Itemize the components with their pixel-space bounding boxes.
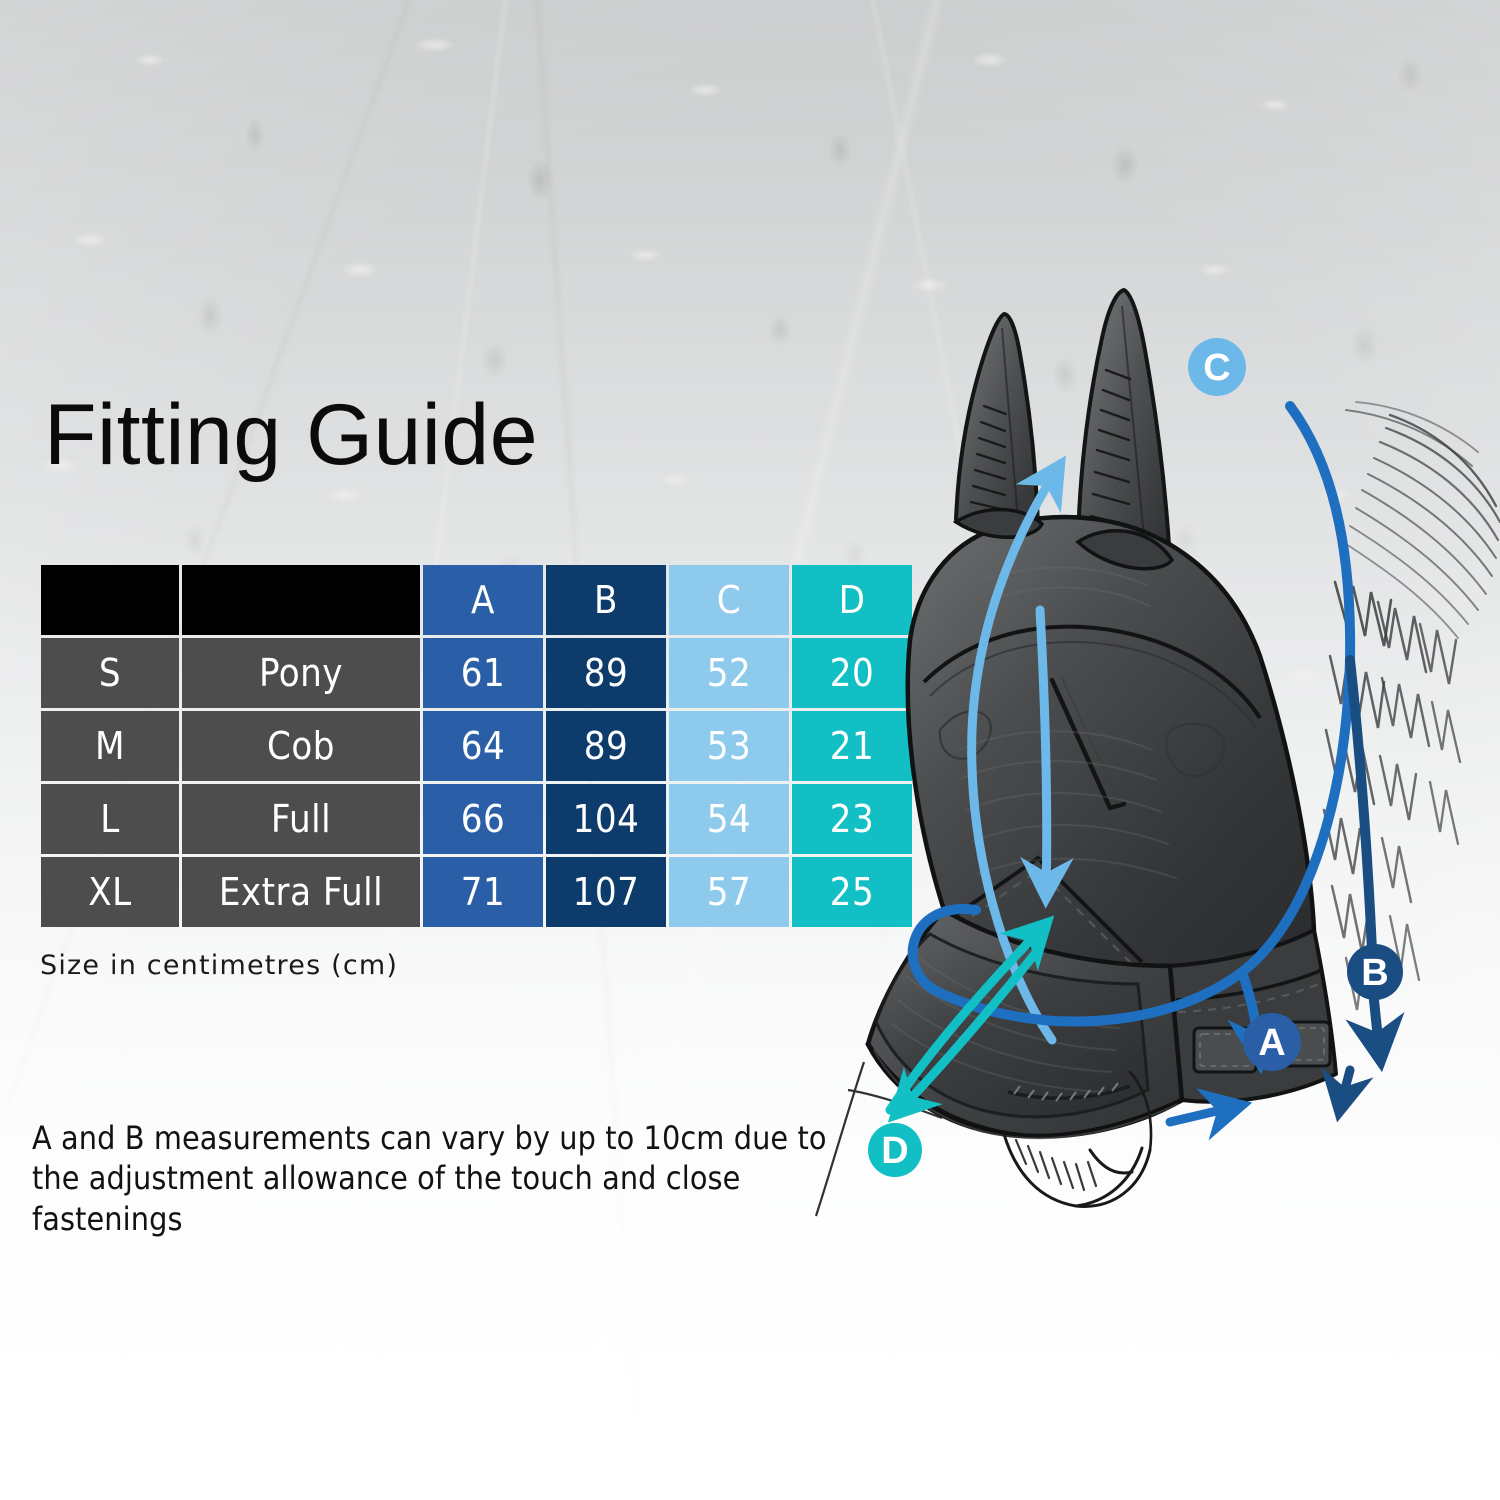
size-chart-table: A B C D S Pony 61 89 52 20 M Cob 64 89 5… [38, 562, 915, 930]
marker-a-label: A [1258, 1022, 1285, 1064]
unit-note: Size in centimetres (cm) [40, 950, 398, 981]
marker-d-label: D [881, 1130, 908, 1172]
cell-a: 61 [423, 638, 543, 708]
cell-c: 53 [669, 711, 789, 781]
cell-size-name: Pony [182, 638, 420, 708]
cell-size-name: Full [182, 784, 420, 854]
table-header-row: A B C D [41, 565, 912, 635]
page-title: Fitting Guide [44, 392, 538, 478]
cell-size: L [41, 784, 179, 854]
cell-a: 71 [423, 857, 543, 927]
fitting-guide-page: Fitting Guide A B C D S Pony 61 89 52 20… [0, 0, 1500, 1500]
cell-b: 107 [546, 857, 666, 927]
header-col-c: C [669, 565, 789, 635]
cell-b: 89 [546, 711, 666, 781]
table-row: L Full 66 104 54 23 [41, 784, 912, 854]
table-row: XL Extra Full 71 107 57 25 [41, 857, 912, 927]
header-col-b: B [546, 565, 666, 635]
horse-ear-left [956, 314, 1038, 528]
marker-b-label: B [1361, 952, 1388, 994]
measure-arrow-a [1170, 1106, 1238, 1122]
cell-size: XL [41, 857, 179, 927]
table-row: S Pony 61 89 52 20 [41, 638, 912, 708]
header-col-a: A [423, 565, 543, 635]
measurement-footnote: A and B measurements can vary by up to 1… [32, 1118, 832, 1239]
header-blank-name [182, 565, 420, 635]
cell-b: 89 [546, 638, 666, 708]
cell-size: M [41, 711, 179, 781]
marker-c-label: C [1203, 347, 1230, 389]
cell-c: 54 [669, 784, 789, 854]
cell-size: S [41, 638, 179, 708]
cell-size-name: Extra Full [182, 857, 420, 927]
cell-a: 66 [423, 784, 543, 854]
measurement-marker-b: B [1347, 944, 1403, 1000]
measurement-marker-a: A [1243, 1013, 1301, 1071]
measurement-marker-c: C [1188, 338, 1246, 396]
cell-c: 57 [669, 857, 789, 927]
cell-b: 104 [546, 784, 666, 854]
cell-a: 64 [423, 711, 543, 781]
measurement-marker-d: D [868, 1123, 922, 1177]
horse-fly-mask-diagram: C A B D [790, 210, 1500, 1220]
cell-size-name: Cob [182, 711, 420, 781]
table-row: M Cob 64 89 53 21 [41, 711, 912, 781]
cell-c: 52 [669, 638, 789, 708]
header-blank-size [41, 565, 179, 635]
